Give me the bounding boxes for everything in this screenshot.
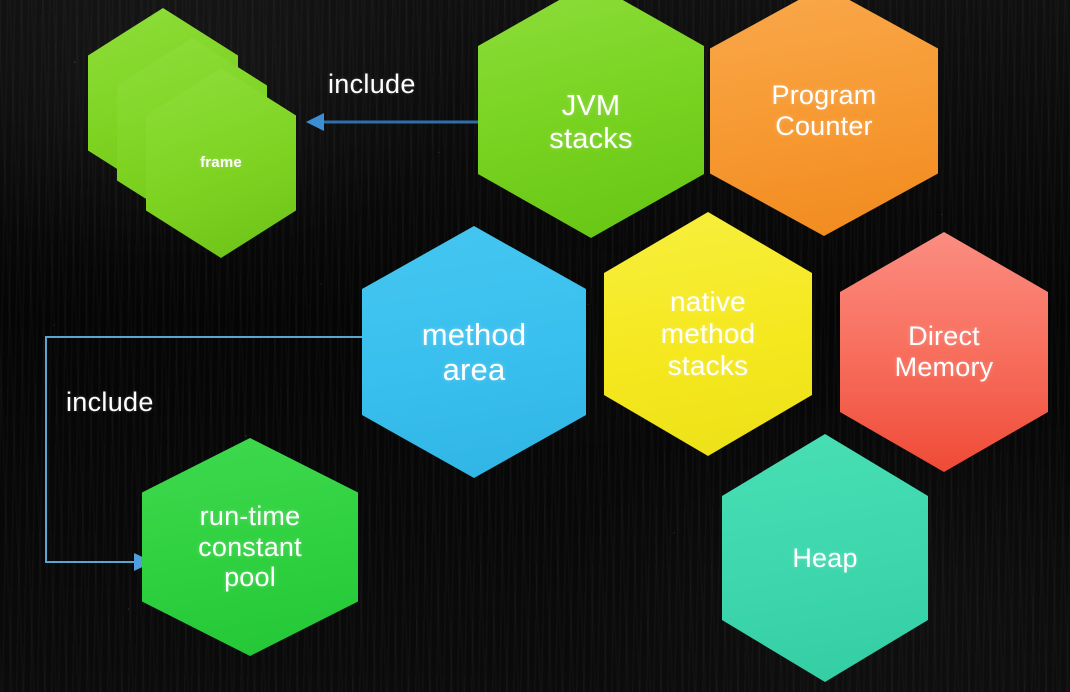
hex-native-method-stacks[interactable]: native method stacks: [604, 212, 812, 456]
hex-heap-label: Heap: [786, 543, 863, 574]
edge-label-include-top: include: [328, 69, 416, 100]
arrowhead-left-icon: [306, 113, 324, 131]
hex-direct-memory-label: Direct Memory: [889, 321, 1000, 383]
hex-heap[interactable]: Heap: [722, 434, 928, 682]
edge-label-include-left: include: [66, 387, 154, 418]
hex-native-method-stacks-label: native method stacks: [655, 286, 762, 382]
hex-runtime-constant-pool[interactable]: run-time constant pool: [142, 438, 358, 656]
hex-method-area-label: method area: [416, 317, 533, 388]
hex-program-counter-label: Program Counter: [766, 80, 883, 142]
hex-program-counter[interactable]: Program Counter: [710, 0, 938, 236]
hex-frame-label: frame: [194, 154, 248, 171]
diagram-canvas: frame include include JVM stacks Program…: [0, 0, 1070, 692]
hex-jvm-stacks[interactable]: JVM stacks: [478, 0, 704, 238]
hex-method-area[interactable]: method area: [362, 226, 586, 478]
hex-direct-memory[interactable]: Direct Memory: [840, 232, 1048, 472]
hex-jvm-stacks-label: JVM stacks: [543, 64, 638, 156]
hex-runtime-constant-pool-label: run-time constant pool: [192, 501, 308, 593]
